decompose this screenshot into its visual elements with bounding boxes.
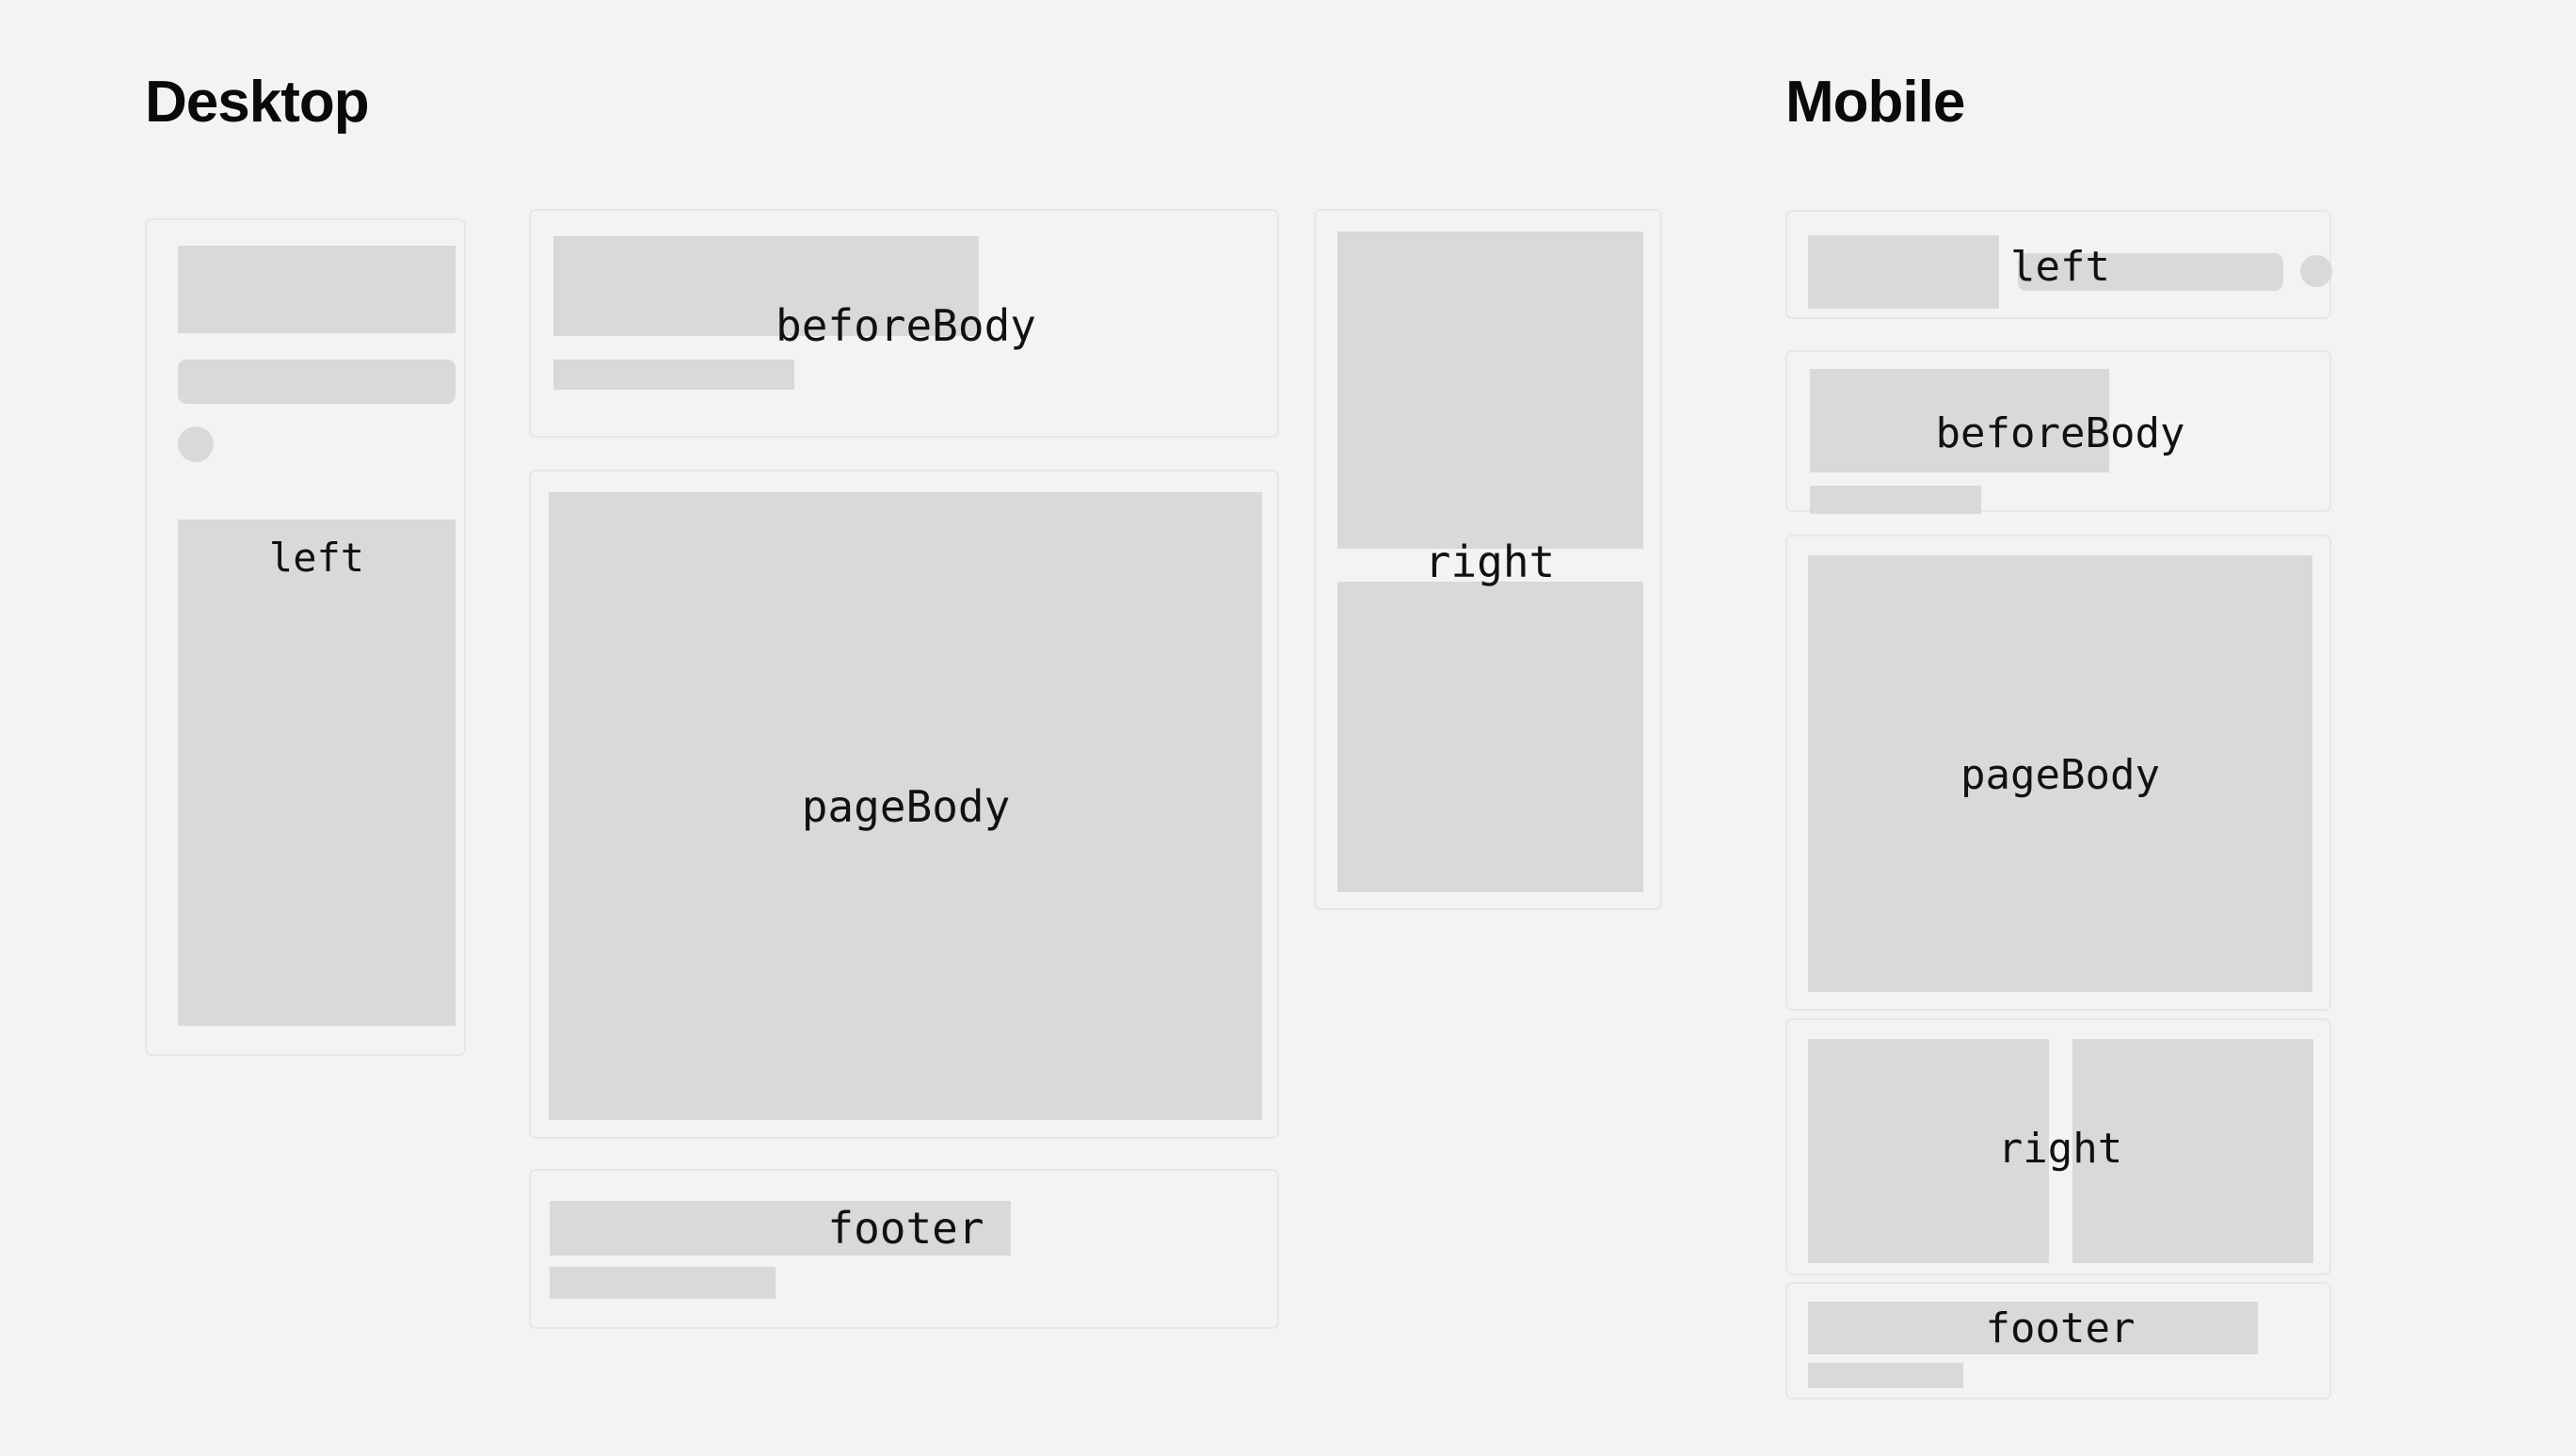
mobile-section-title: Mobile bbox=[1785, 73, 1964, 132]
desktop-before-body-panel[interactable]: beforeBody bbox=[529, 209, 1279, 438]
mobile-footer-subtitle-block bbox=[1808, 1363, 1963, 1388]
desktop-footer-panel[interactable]: footer bbox=[529, 1169, 1279, 1329]
desktop-left-panel[interactable]: left bbox=[145, 218, 466, 1056]
desktop-right-panel[interactable]: right bbox=[1314, 209, 1662, 910]
desktop-page-body-panel[interactable]: pageBody bbox=[529, 470, 1279, 1139]
mobile-left-avatar-circle bbox=[2300, 255, 2332, 287]
mobile-before-body-subtitle-block bbox=[1810, 486, 1981, 514]
desktop-left-search-block bbox=[178, 360, 456, 404]
mobile-right-right-column-block bbox=[2072, 1039, 2313, 1263]
mobile-page-body-panel[interactable]: pageBody bbox=[1785, 535, 2331, 1011]
mobile-before-body-banner-block bbox=[1810, 369, 2109, 472]
desktop-left-header-block bbox=[178, 246, 456, 333]
desktop-left-avatar-circle bbox=[178, 426, 214, 462]
desktop-section-title: Desktop bbox=[145, 73, 369, 132]
desktop-before-body-banner-block bbox=[553, 236, 979, 336]
mobile-page-body-content-block bbox=[1808, 555, 2312, 992]
mobile-right-left-column-block bbox=[1808, 1039, 2049, 1263]
mobile-left-panel[interactable]: left bbox=[1785, 210, 2331, 319]
desktop-footer-block bbox=[550, 1201, 1011, 1256]
mobile-right-panel[interactable]: right bbox=[1785, 1018, 2331, 1275]
mobile-left-search-block bbox=[2018, 253, 2283, 291]
desktop-page-body-content-block bbox=[549, 492, 1262, 1120]
desktop-footer-subtitle-block bbox=[550, 1267, 776, 1299]
desktop-right-upper-block bbox=[1337, 232, 1643, 549]
mobile-footer-panel[interactable]: footer bbox=[1785, 1282, 2331, 1400]
desktop-right-lower-block bbox=[1337, 582, 1643, 892]
mobile-footer-block bbox=[1808, 1302, 2258, 1354]
desktop-left-nav-block bbox=[178, 520, 456, 1026]
desktop-before-body-subtitle-block bbox=[553, 360, 794, 390]
mobile-left-header-block bbox=[1808, 235, 1999, 309]
mobile-before-body-panel[interactable]: beforeBody bbox=[1785, 350, 2331, 512]
